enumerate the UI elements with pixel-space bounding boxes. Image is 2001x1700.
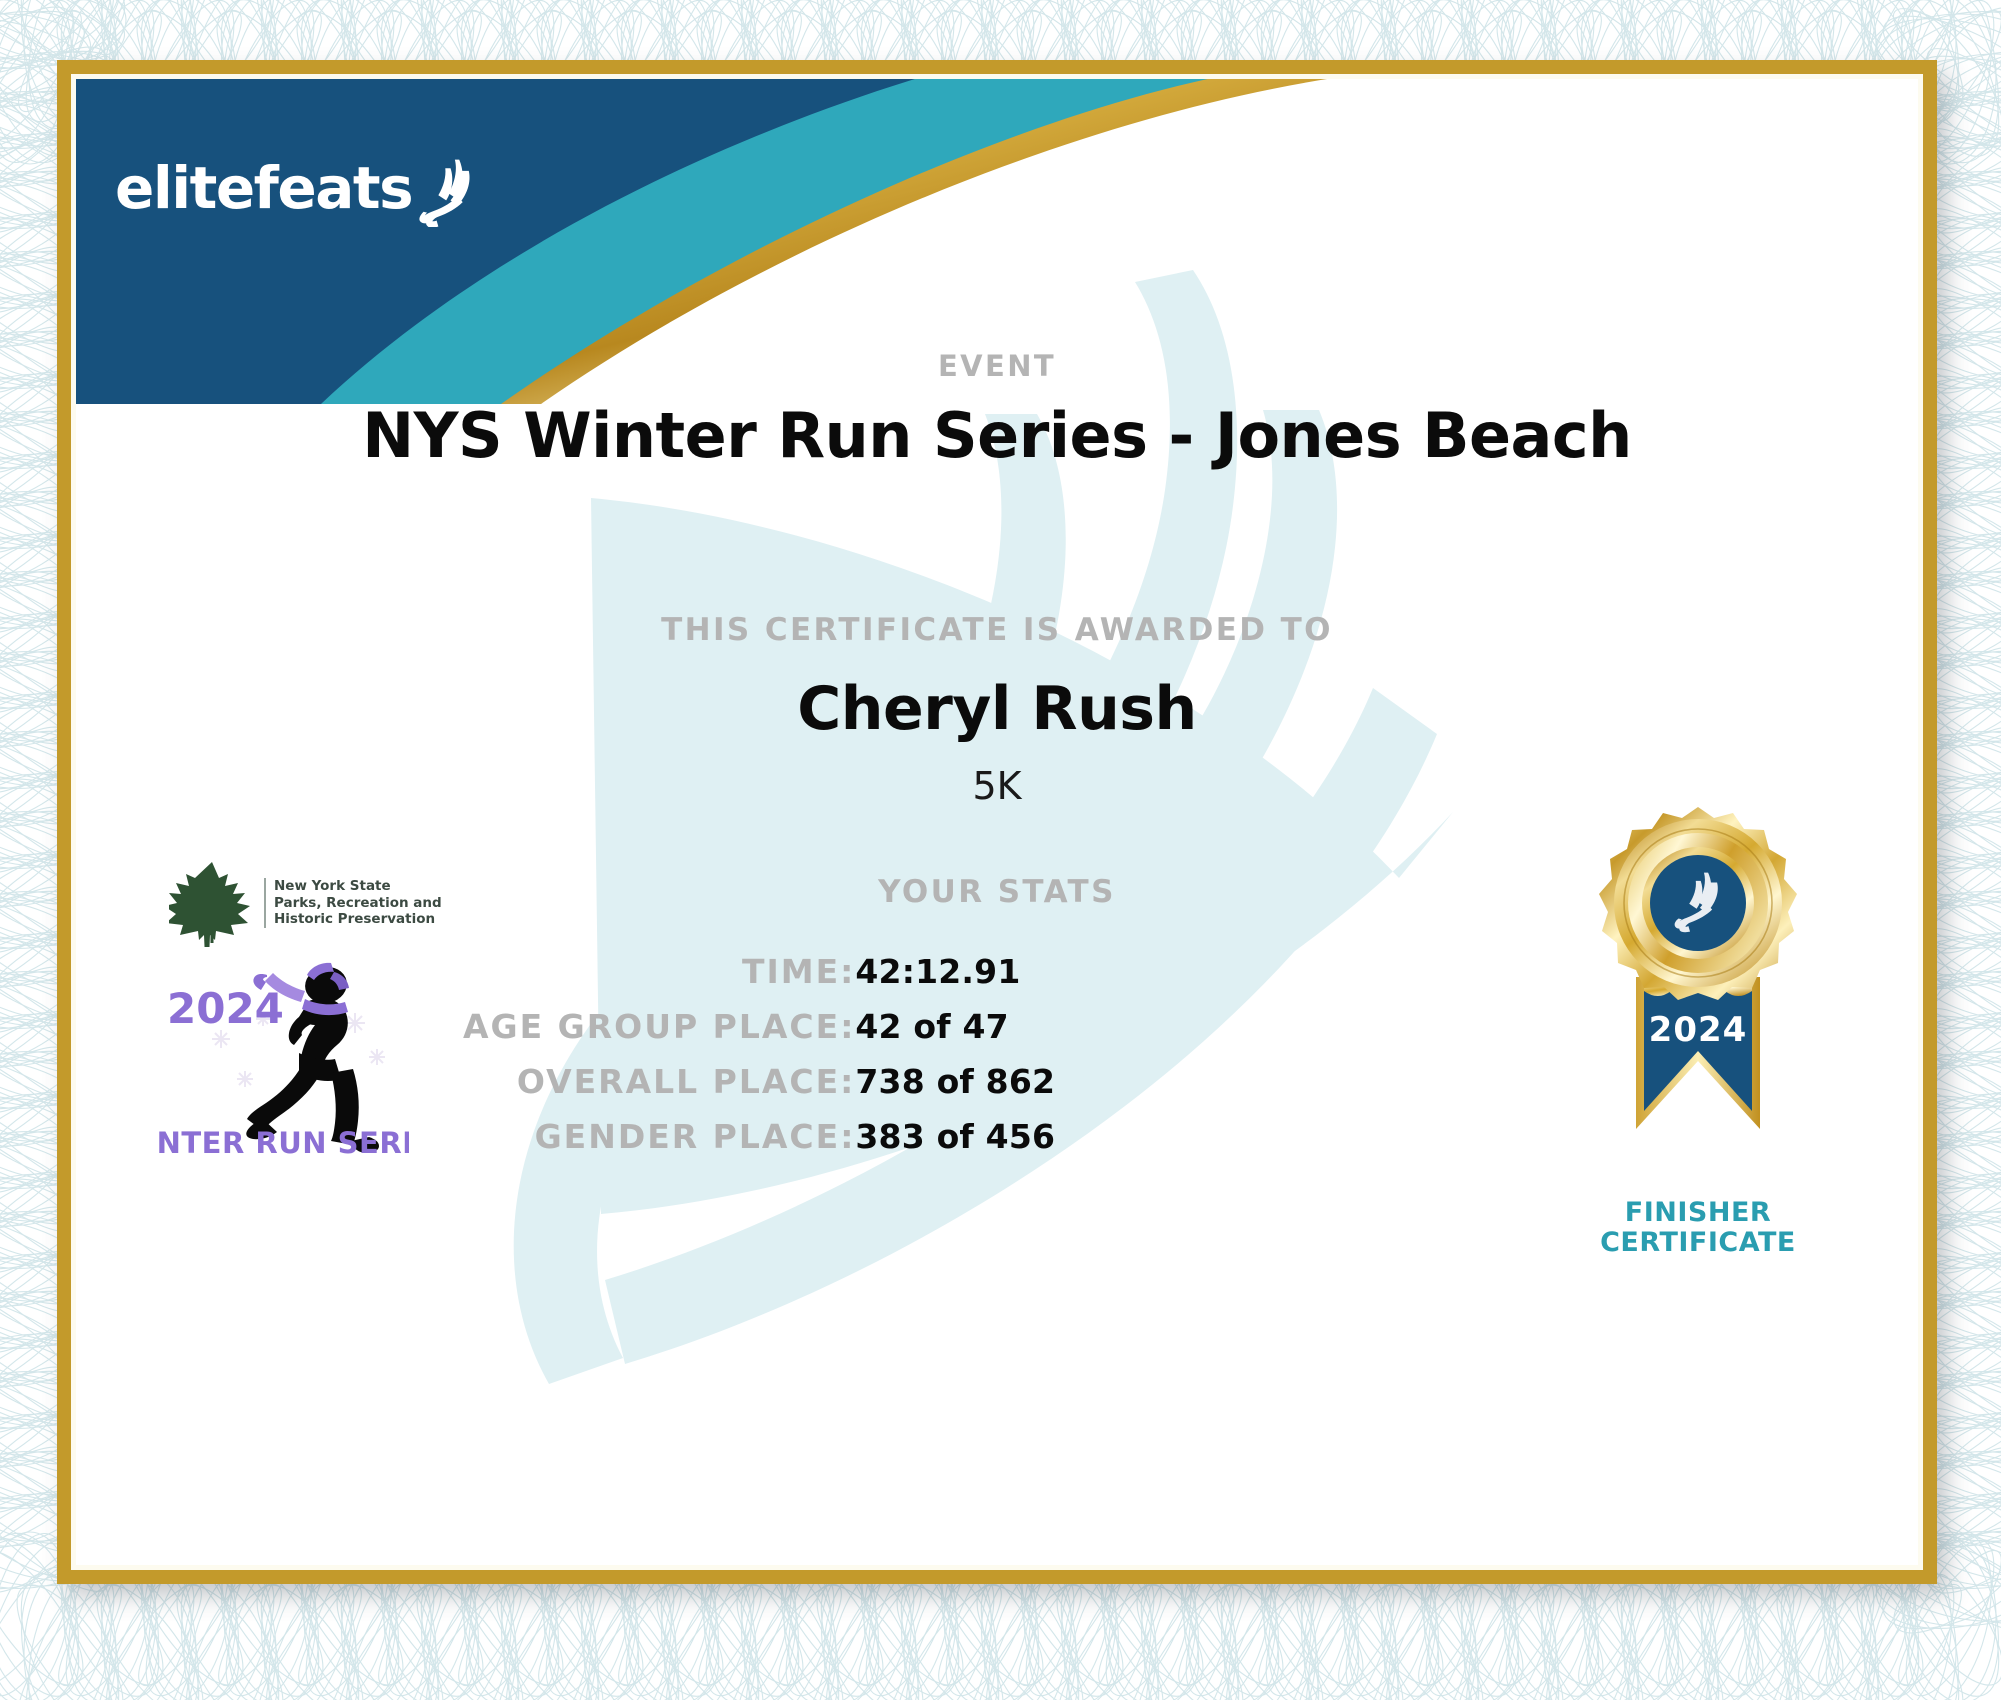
medal-starburst — [1599, 807, 1797, 1000]
stat-label-time: TIME: — [463, 944, 855, 999]
maple-leaf-icon — [169, 859, 255, 947]
event-label: EVENT — [71, 349, 1923, 383]
stat-label-age-group-place: AGE GROUP PLACE: — [463, 999, 855, 1054]
nys-parks-line2: Parks, Recreation and — [274, 895, 442, 911]
certificate-page: elitefeats EVENT NYS Winter Run Series -… — [0, 0, 2001, 1700]
winter-run-series-artwork: 2024 WINTER RUN SERIES — [159, 961, 409, 1161]
seal-caption: FINISHER CERTIFICATE — [1568, 1198, 1828, 1258]
table-row: OVERALL PLACE: 738 of 862 — [463, 1054, 1055, 1109]
awarded-to-label: THIS CERTIFICATE IS AWARDED TO — [71, 612, 1923, 648]
stat-value-age-group-place: 42 of 47 — [855, 999, 1055, 1054]
sponsor-logos: New York State Parks, Recreation and His… — [151, 859, 481, 1161]
table-row: TIME: 42:12.91 — [463, 944, 1055, 999]
seal-caption-line1: FINISHER — [1568, 1198, 1828, 1228]
nys-parks-line1: New York State — [274, 878, 442, 894]
stat-label-overall-place: OVERALL PLACE: — [463, 1054, 855, 1109]
nys-parks-logo: New York State Parks, Recreation and His… — [169, 859, 481, 947]
winged-foot-icon — [414, 153, 475, 227]
elitefeats-logo: elitefeats — [115, 132, 475, 244]
finisher-seal: 2024 FINISHER CERTIFICATE — [1568, 799, 1828, 1258]
gold-rosette-medal-icon: 2024 — [1568, 799, 1828, 1189]
ribbon-year: 2024 — [1649, 1010, 1748, 1050]
wrs-year: 2024 — [167, 984, 284, 1033]
wrs-title: WINTER RUN SERIES — [159, 1126, 409, 1160]
stat-value-time: 42:12.91 — [855, 944, 1055, 999]
stat-value-overall-place: 738 of 862 — [855, 1054, 1055, 1109]
certificate-card: elitefeats EVENT NYS Winter Run Series -… — [57, 60, 1937, 1584]
brand-wordmark: elitefeats — [115, 159, 412, 217]
event-title: NYS Winter Run Series - Jones Beach — [71, 399, 1923, 472]
winter-run-series-logo: 2024 WINTER RUN SERIES — [159, 961, 409, 1161]
ribbon — [1636, 976, 1760, 1129]
recipient-name: Cheryl Rush — [71, 674, 1923, 744]
table-row: AGE GROUP PLACE: 42 of 47 — [463, 999, 1055, 1054]
seal-caption-line2: CERTIFICATE — [1568, 1228, 1828, 1258]
table-row: GENDER PLACE: 383 of 456 — [463, 1109, 1055, 1164]
stat-value-gender-place: 383 of 456 — [855, 1109, 1055, 1164]
nys-parks-line3: Historic Preservation — [274, 911, 442, 927]
stat-label-gender-place: GENDER PLACE: — [463, 1109, 855, 1164]
nys-parks-text: New York State Parks, Recreation and His… — [264, 878, 442, 927]
